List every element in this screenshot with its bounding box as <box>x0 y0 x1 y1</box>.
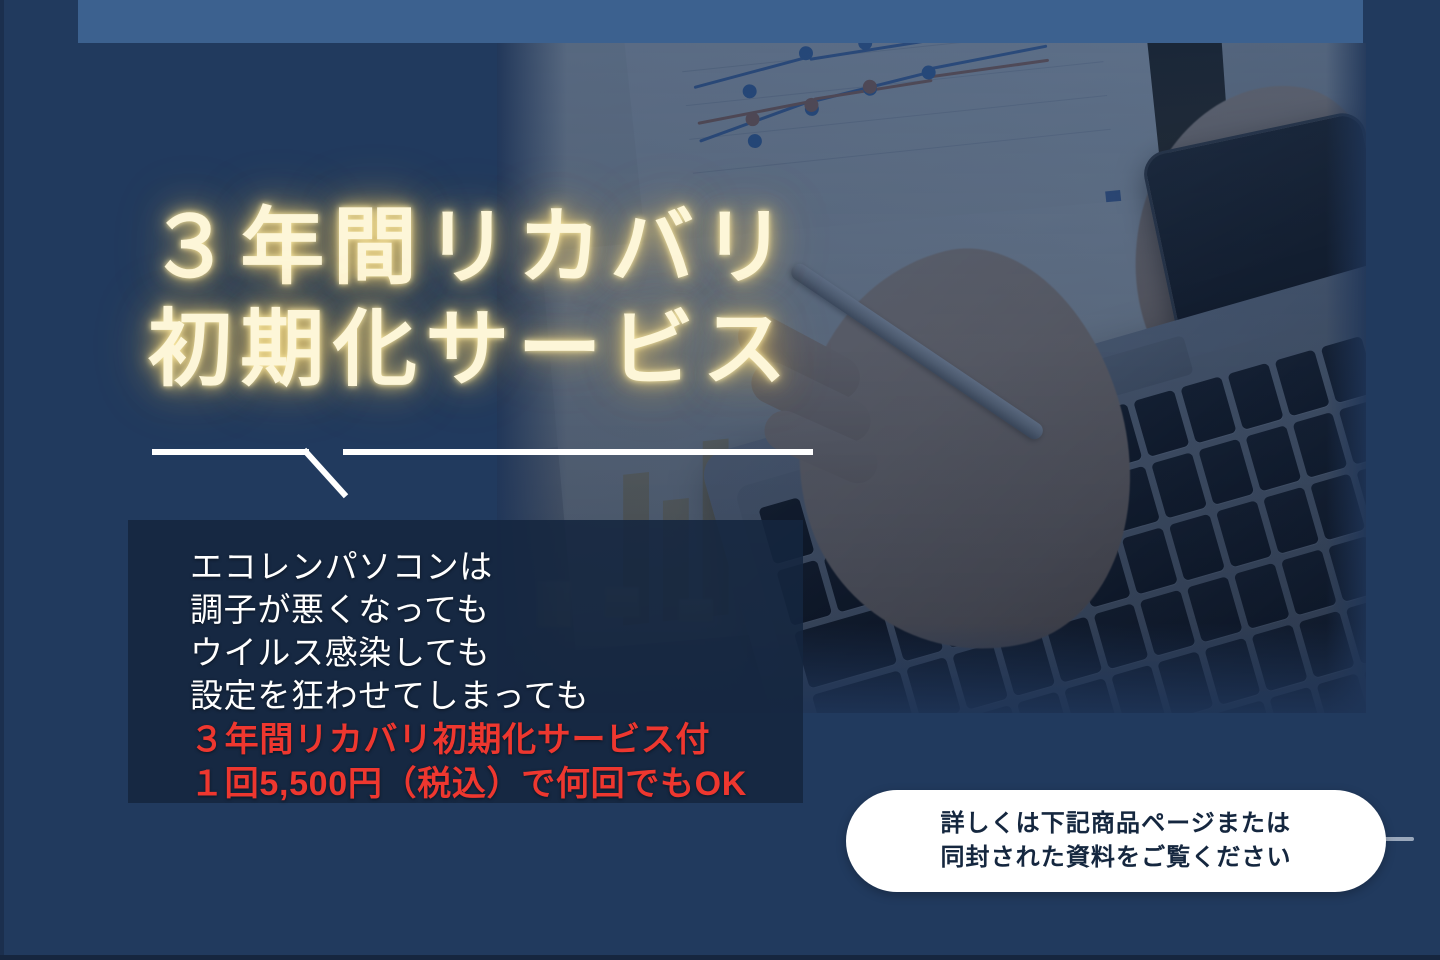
info-line-highlight: ３年間リカバリ初期化サービス付 <box>190 718 803 762</box>
info-line: エコレンパソコンは <box>190 546 803 589</box>
cta-pill-line-2: 同封された資料をご覧ください <box>940 841 1291 875</box>
top-accent-band <box>78 0 1363 43</box>
photo-right-fade <box>1326 43 1366 713</box>
banner-stage: ３年間リカバリ 初期化サービス エコレンパソコンは 調子が悪くなっても ウイルス… <box>0 0 1440 960</box>
bottom-edge-strip <box>0 955 1440 960</box>
info-line-highlight: １回5,500円（税込）で何回でもOK <box>190 762 803 806</box>
info-line: 調子が悪くなっても <box>190 589 803 632</box>
cta-pill-line-1: 詳しくは下記商品ページまたは <box>940 807 1291 841</box>
cta-pill[interactable]: 詳しくは下記商品ページまたは 同封された資料をご覧ください <box>846 790 1386 892</box>
cta-pill-text: 詳しくは下記商品ページまたは 同封された資料をご覧ください <box>940 807 1291 875</box>
info-line: 設定を狂わせてしまっても <box>190 675 803 718</box>
info-line: ウイルス感染しても <box>190 632 803 675</box>
info-box: エコレンパソコンは 調子が悪くなっても ウイルス感染しても 設定を狂わせてしまっ… <box>128 520 803 803</box>
left-edge-strip <box>0 0 4 960</box>
